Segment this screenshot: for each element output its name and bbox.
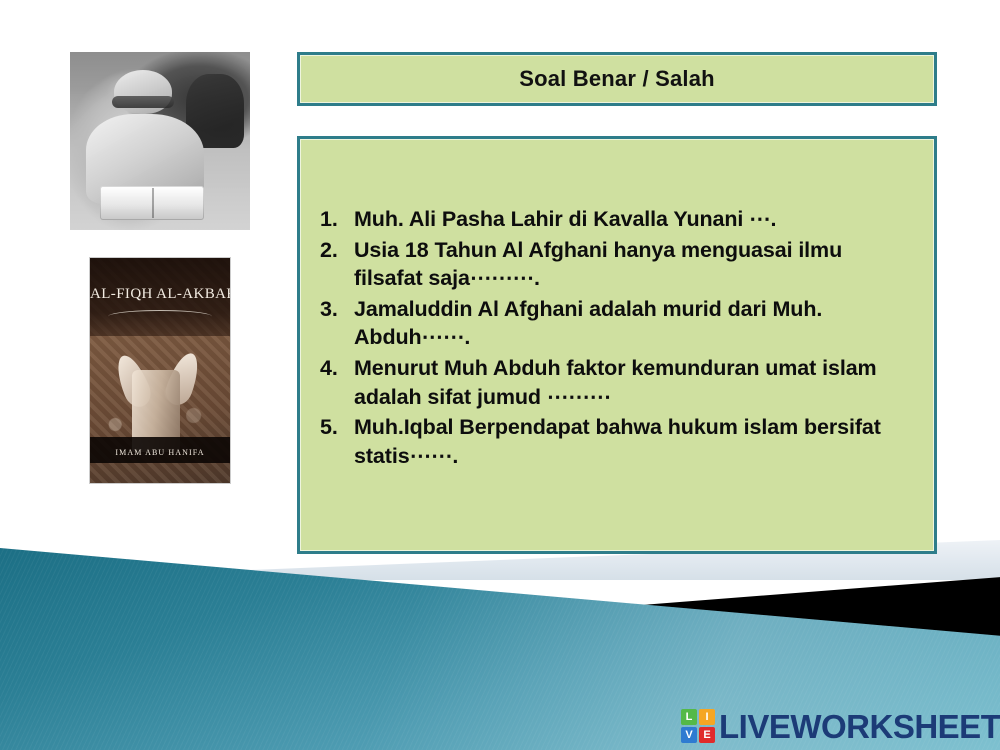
book-cover-ornament xyxy=(108,310,212,323)
list-item: Jamaluddin Al Afghani adalah murid dari … xyxy=(316,295,912,352)
list-item: Muh. Ali Pasha Lahir di Kavalla Yunani ⋯… xyxy=(316,205,912,234)
list-item: Menurut Muh Abduh faktor kemunduran umat… xyxy=(316,354,912,411)
liveworksheets-wordmark: LIVEWORKSHEETS xyxy=(719,710,1000,743)
liveworksheets-logo[interactable]: L I V E LIVEWORKSHEETS xyxy=(681,709,1000,743)
decorative-black-wedge xyxy=(0,560,1000,655)
photo-book-cover-al-fiqh-al-akbar: AL-FIQH AL-AKBAR IMAM ABU HANIFA xyxy=(90,258,230,483)
question-list: Muh. Ali Pasha Lahir di Kavalla Yunani ⋯… xyxy=(300,139,934,470)
book-cover-title: AL-FIQH AL-AKBAR xyxy=(90,286,230,303)
slide-canvas: AL-FIQH AL-AKBAR IMAM ABU HANIFA Soal Be… xyxy=(0,0,1000,750)
logo-tile-v: V xyxy=(681,727,697,743)
photo-open-book xyxy=(100,186,204,220)
list-item: Muh.Iqbal Berpendapat bahwa hukum islam … xyxy=(316,413,912,470)
liveworksheets-logo-tiles: L I V E xyxy=(681,709,715,743)
logo-tile-e: E xyxy=(699,727,715,743)
logo-tile-i: I xyxy=(699,709,715,725)
content-box: Muh. Ali Pasha Lahir di Kavalla Yunani ⋯… xyxy=(297,136,937,554)
photo-figure-cap xyxy=(112,96,174,108)
list-item: Usia 18 Tahun Al Afghani hanya menguasai… xyxy=(316,236,912,293)
logo-tile-l: L xyxy=(681,709,697,725)
photo-man-reading-quran xyxy=(70,52,250,230)
page-title: Soal Benar / Salah xyxy=(519,66,715,92)
title-box: Soal Benar / Salah xyxy=(297,52,937,106)
book-cover-author: IMAM ABU HANIFA xyxy=(90,448,230,457)
